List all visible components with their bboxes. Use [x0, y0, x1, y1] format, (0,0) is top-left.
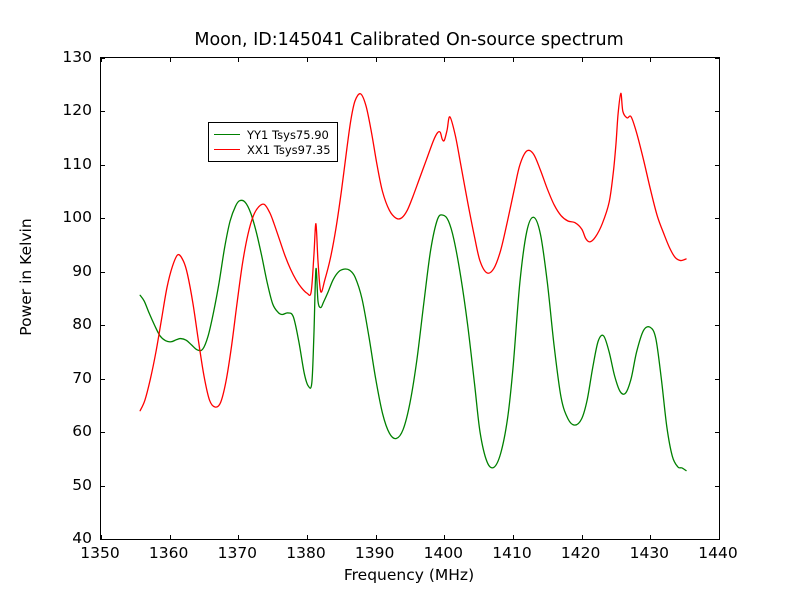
figure-canvas: Moon, ID:145041 Calibrated On-source spe…	[0, 0, 800, 600]
x-tick-mark	[307, 535, 308, 539]
y-tick-label: 90	[72, 262, 92, 280]
x-tick-label: 1400	[424, 544, 463, 562]
x-tick-mark	[170, 58, 171, 62]
y-tick-mark	[715, 272, 719, 273]
spectrum-plot	[101, 58, 719, 539]
x-tick-mark	[376, 535, 377, 539]
y-tick-label: 50	[72, 476, 92, 494]
legend-item-yy1: YY1 Tsys75.90	[214, 127, 331, 142]
y-axis-tick-labels: 405060708090100110120130	[46, 57, 92, 538]
y-tick-mark	[101, 539, 105, 540]
x-tick-mark	[238, 58, 239, 62]
series-line-yy1	[140, 200, 686, 470]
y-axis-label: Power in Kelvin	[17, 187, 35, 367]
y-tick-label: 100	[62, 208, 92, 226]
x-tick-label: 1420	[561, 544, 600, 562]
y-tick-mark	[715, 432, 719, 433]
x-tick-mark	[444, 535, 445, 539]
y-tick-mark	[101, 379, 105, 380]
x-tick-mark	[101, 535, 102, 539]
y-tick-mark	[101, 111, 105, 112]
legend-item-xx1: XX1 Tsys97.35	[214, 142, 331, 157]
x-tick-label: 1390	[355, 544, 394, 562]
x-tick-mark	[376, 58, 377, 62]
y-tick-label: 60	[72, 422, 92, 440]
y-tick-mark	[715, 486, 719, 487]
y-tick-mark	[715, 539, 719, 540]
y-tick-mark	[101, 218, 105, 219]
x-axis-label: Frequency (MHz)	[100, 566, 718, 584]
page-title: Moon, ID:145041 Calibrated On-source spe…	[100, 30, 718, 50]
x-tick-mark	[170, 535, 171, 539]
y-tick-mark	[101, 272, 105, 273]
x-tick-mark	[582, 535, 583, 539]
y-tick-mark	[715, 165, 719, 166]
y-tick-mark	[101, 325, 105, 326]
y-tick-label: 70	[72, 369, 92, 387]
legend-label-xx1: XX1 Tsys97.35	[247, 143, 331, 157]
legend-label-yy1: YY1 Tsys75.90	[247, 128, 329, 142]
x-tick-mark	[582, 58, 583, 62]
x-tick-mark	[719, 58, 720, 62]
x-tick-label: 1350	[80, 544, 119, 562]
y-tick-label: 130	[62, 48, 92, 66]
x-tick-label: 1430	[630, 544, 669, 562]
y-tick-mark	[101, 432, 105, 433]
x-tick-mark	[101, 58, 102, 62]
x-tick-mark	[719, 535, 720, 539]
y-tick-mark	[715, 218, 719, 219]
legend-line-swatch-xx1	[214, 149, 240, 150]
x-tick-mark	[650, 58, 651, 62]
x-tick-label: 1440	[698, 544, 737, 562]
y-tick-mark	[715, 111, 719, 112]
x-tick-mark	[238, 535, 239, 539]
y-tick-label: 110	[62, 155, 92, 173]
x-tick-mark	[650, 535, 651, 539]
x-tick-mark	[513, 535, 514, 539]
legend: YY1 Tsys75.90 XX1 Tsys97.35	[208, 122, 338, 162]
x-tick-mark	[513, 58, 514, 62]
y-tick-label: 120	[62, 101, 92, 119]
x-tick-mark	[444, 58, 445, 62]
y-tick-mark	[715, 325, 719, 326]
x-tick-mark	[307, 58, 308, 62]
x-tick-label: 1380	[286, 544, 325, 562]
x-tick-label: 1370	[218, 544, 257, 562]
x-tick-label: 1360	[149, 544, 188, 562]
legend-line-swatch-yy1	[214, 134, 240, 135]
y-tick-mark	[715, 379, 719, 380]
y-tick-mark	[101, 486, 105, 487]
y-tick-mark	[101, 165, 105, 166]
plot-axes: YY1 Tsys75.90 XX1 Tsys97.35	[100, 57, 720, 540]
y-tick-label: 80	[72, 315, 92, 333]
x-tick-label: 1410	[492, 544, 531, 562]
x-axis-tick-labels: 1350136013701380139014001410142014301440	[100, 544, 718, 568]
